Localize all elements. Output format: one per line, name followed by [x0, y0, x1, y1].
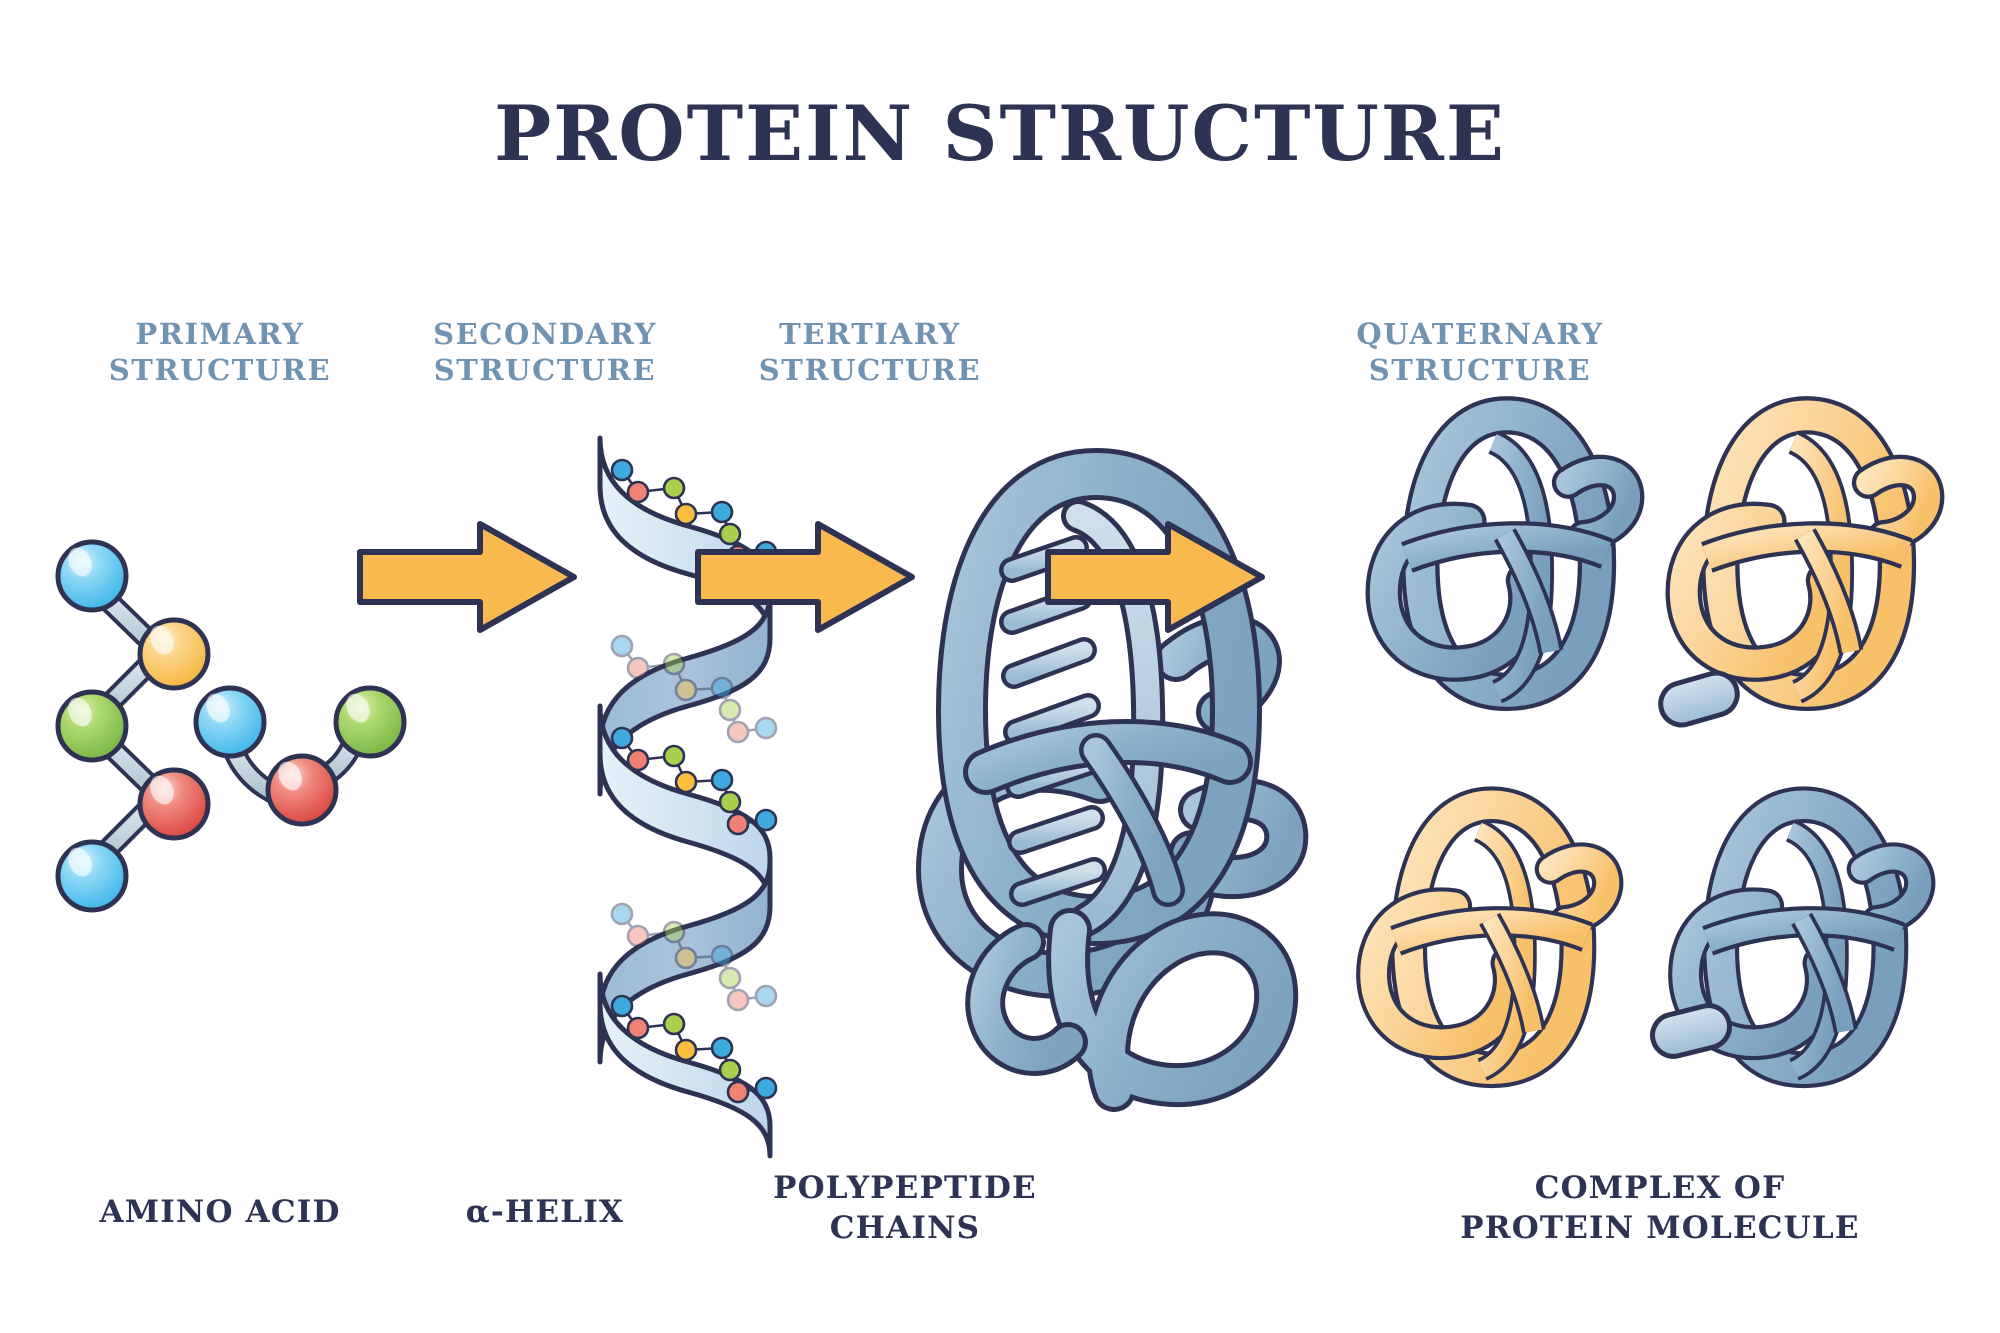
stage-caption-primary: AMINO ACID — [45, 1192, 395, 1232]
stage-caption-quaternary: COMPLEX OF PROTEIN MOLECULE — [1380, 1168, 1940, 1249]
atom-blue — [58, 842, 126, 910]
subunit-top-left — [1384, 415, 1628, 691]
atom-blue — [196, 688, 264, 756]
connector-capsule — [1656, 668, 1743, 730]
amino-acid-icon — [40, 520, 380, 960]
protein-complex-icon — [1400, 410, 1980, 1170]
arrow-secondary-to-tertiary-icon — [690, 512, 920, 642]
stage-caption-secondary: α-HELIX — [385, 1192, 705, 1232]
atom-orange — [140, 620, 208, 688]
atom-green — [336, 688, 404, 756]
stage-heading-secondary: SECONDARY STRUCTURE — [385, 316, 705, 389]
arrow-tertiary-to-quaternary-icon — [1040, 512, 1270, 642]
protein-structure-diagram: PROTEIN STRUCTURE PRIMARY STRUCTURE SECO… — [0, 0, 2000, 1333]
atom-red — [140, 770, 208, 838]
stage-heading-quaternary: QUATERNARY STRUCTURE — [1150, 316, 1810, 389]
atom-blue — [58, 542, 126, 610]
atom-red — [268, 756, 336, 824]
arrow-primary-to-secondary-icon — [352, 512, 582, 642]
stage-heading-primary: PRIMARY STRUCTURE — [60, 316, 380, 389]
stage-heading-tertiary: TERTIARY STRUCTURE — [705, 316, 1035, 389]
atom-green — [58, 692, 126, 760]
page-title: PROTEIN STRUCTURE — [0, 96, 2000, 172]
stage-caption-tertiary: POLYPEPTIDE CHAINS — [690, 1168, 1120, 1249]
subunit-bottom-left — [1374, 805, 1608, 1070]
subunit-top-right — [1684, 415, 1928, 691]
